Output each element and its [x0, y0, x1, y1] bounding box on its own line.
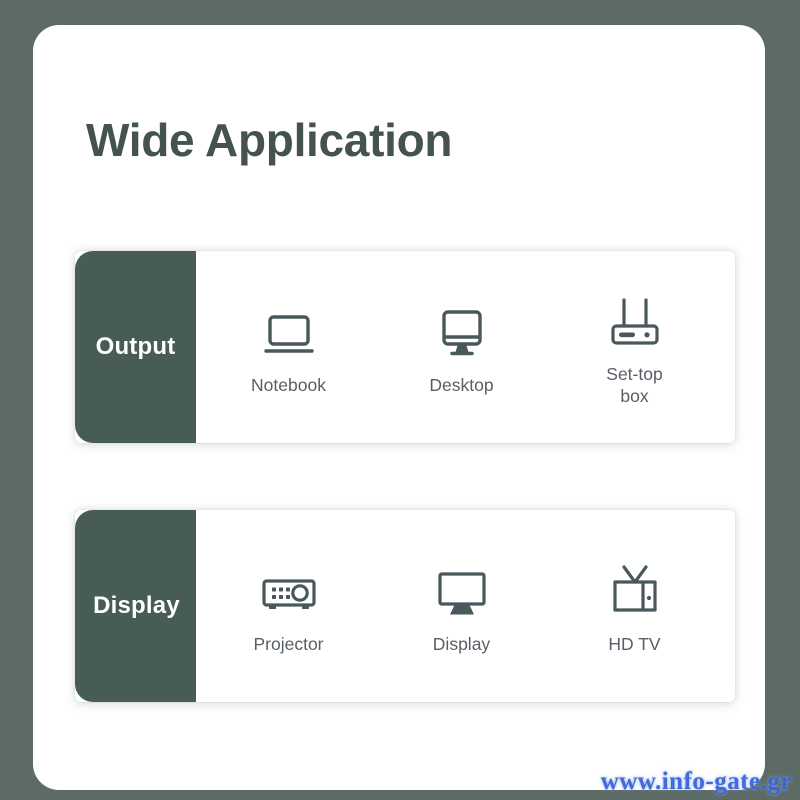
- output-item-desktop[interactable]: Desktop: [387, 298, 537, 396]
- display-item-hd-tv[interactable]: HD TV: [560, 557, 710, 655]
- hd-tv-icon: [606, 557, 664, 619]
- notebook-icon: [260, 298, 318, 360]
- output-item-notebook[interactable]: Notebook: [214, 298, 364, 396]
- display-item-projector-label: Projector: [253, 633, 323, 655]
- output-label-panel: Output: [75, 251, 196, 443]
- output-item-desktop-label: Desktop: [429, 374, 493, 396]
- page-title: Wide Application: [86, 113, 452, 167]
- display-label-panel: Display: [75, 510, 196, 702]
- display-item-hd-tv-label: HD TV: [608, 633, 660, 655]
- output-items: Notebook Desktop: [196, 251, 735, 443]
- display-item-display[interactable]: Display: [387, 557, 537, 655]
- output-row-card: Output Notebook: [75, 251, 735, 443]
- display-monitor-icon: [431, 557, 493, 619]
- output-label: Output: [96, 333, 176, 361]
- output-item-set-top-box[interactable]: Set-top box: [560, 287, 710, 408]
- display-items: Projector Display: [196, 510, 735, 702]
- watermark: www.info-gate.gr: [601, 768, 792, 796]
- content-card: Wide Application Output Notebook: [33, 25, 765, 790]
- desktop-monitor-icon: [433, 298, 491, 360]
- display-row-card: Display: [75, 510, 735, 702]
- output-item-set-top-box-label: Set-top box: [599, 363, 671, 408]
- output-item-notebook-label: Notebook: [251, 374, 326, 396]
- projector-icon: [257, 557, 321, 619]
- display-label: Display: [93, 592, 180, 620]
- display-item-projector[interactable]: Projector: [214, 557, 364, 655]
- display-item-display-label: Display: [433, 633, 490, 655]
- page-background: Wide Application Output Notebook: [0, 0, 800, 800]
- set-top-box-icon: [604, 287, 666, 349]
